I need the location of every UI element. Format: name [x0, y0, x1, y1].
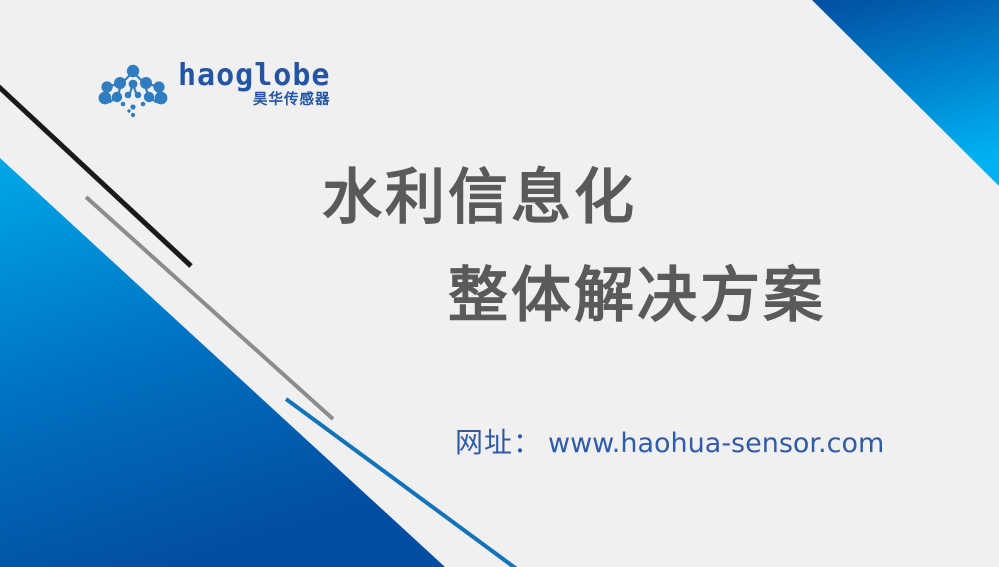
logo-text-block: haoglobe 昊华传感器	[178, 58, 331, 108]
slide-title-line-1: 水利信息化	[322, 168, 637, 228]
title-slide: haoglobe 昊华传感器 水利信息化 整体解决方案 网址： www.haoh…	[0, 0, 999, 567]
logo-subtext: 昊华传感器	[253, 93, 331, 109]
slide-title-line-2: 整体解决方案	[448, 266, 826, 326]
brand-logo: haoglobe 昊华传感器	[96, 58, 326, 120]
website-url[interactable]: www.haohua-sensor.com	[548, 428, 884, 459]
website-line: 网址： www.haohua-sensor.com	[455, 421, 884, 461]
logo-wordmark: haoglobe	[178, 60, 331, 92]
website-label: 网址：	[455, 421, 542, 461]
haoglobe-network-dots-logo-icon	[96, 62, 170, 118]
